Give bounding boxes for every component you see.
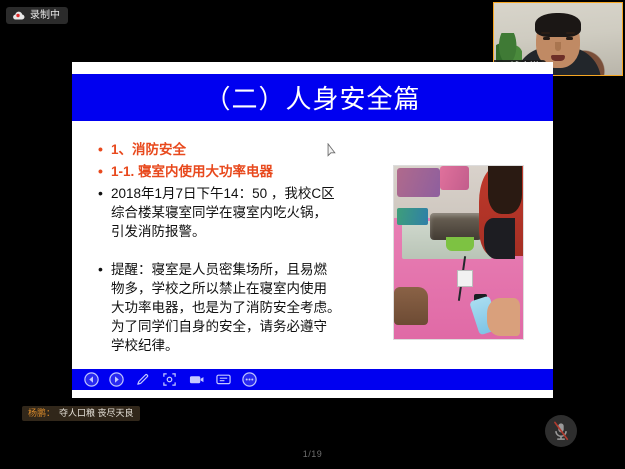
slide-title: （二）人身安全篇 [204, 79, 420, 116]
bullet-text: 提醒：寝室是人员密集场所，且易燃 物多，学校之所以禁止在寝室内使用 大功率电器，… [111, 260, 341, 355]
recording-indicator: 录制中 [6, 7, 68, 24]
bullet-marker: • [98, 260, 111, 279]
participant-eyebrow-left [541, 32, 550, 34]
photo-green-bowl [446, 237, 474, 251]
page-indicator: 1/19 [0, 449, 625, 459]
photo-student-hair [488, 166, 522, 214]
presenter-toolbar[interactable] [84, 372, 257, 387]
participant-eye-left [543, 37, 550, 40]
slide-bullet: • 提醒：寝室是人员密集场所，且易燃 物多，学校之所以禁止在寝室内使用 大功率电… [98, 260, 398, 355]
participant-eyebrow-right [566, 32, 575, 34]
slide-view-button[interactable] [188, 372, 205, 387]
zoom-region-button[interactable] [161, 372, 178, 387]
photo-student-hand [487, 298, 521, 336]
mute-microphone-button[interactable] [545, 415, 577, 447]
photo-white-tag [457, 270, 473, 288]
next-slide-button[interactable] [109, 372, 124, 387]
recording-label: 录制中 [30, 10, 60, 21]
bullet-line: 2018年1月7日下午14：50 ，我校C区 [111, 186, 335, 201]
chat-message: 夺人口粮 丧尽天良 [59, 408, 134, 419]
participant-mouth [551, 55, 565, 61]
cloud-record-icon [12, 11, 25, 20]
chat-author: 杨鹏： [28, 408, 55, 419]
photo-student-legs [484, 218, 515, 260]
slide-title-bar: （二）人身安全篇 [72, 74, 553, 121]
dorm-hotpot-photo [393, 165, 524, 340]
pen-annotate-button[interactable] [134, 372, 151, 387]
slide-body-text: • 1、消防安全 • 1-1. 寝室内使用大功率电器 • 2018年1月7日下午… [98, 140, 398, 358]
slide-bullet: • 2018年1月7日下午14：50 ，我校C区 综合楼某寝室同学在寝室内吃火锅… [98, 184, 398, 241]
slide-bullet: • 1-1. 寝室内使用大功率电器 [98, 162, 398, 181]
bullet-marker: • [98, 140, 111, 159]
presentation-slide[interactable]: （二）人身安全篇 • 1、消防安全 • 1-1. 寝室内使用大功率电器 • 20… [72, 62, 553, 398]
bullet-marker: • [98, 162, 111, 181]
bullet-line: 综合楼某寝室同学在寝室内吃火锅， [111, 205, 327, 220]
bullet-text: 1、消防安全 [111, 140, 186, 159]
photo-brown-cushion [394, 287, 428, 325]
photo-snack-package [397, 208, 428, 225]
bullet-marker: • [98, 184, 111, 203]
photo-luggage-right [440, 166, 468, 190]
bullet-line: 提醒：寝室是人员密集场所，且易燃 [111, 262, 327, 277]
mouse-cursor [327, 143, 338, 159]
bullet-text: 2018年1月7日下午14：50 ，我校C区 综合楼某寝室同学在寝室内吃火锅， … [111, 184, 335, 241]
paragraph-gap [98, 244, 398, 260]
participant-eye-right [566, 37, 573, 40]
previous-slide-button[interactable] [84, 372, 99, 387]
slide-bullet: • 1、消防安全 [98, 140, 398, 159]
microphone-muted-icon [552, 421, 570, 441]
bullet-line: 大功率电器，也是为了消防安全考虑。 [111, 300, 341, 315]
speaker-notes-button[interactable] [215, 372, 232, 387]
bullet-text: 1-1. 寝室内使用大功率电器 [111, 162, 273, 181]
bullet-line: 引发消防报警。 [111, 224, 206, 239]
participant-nose [555, 42, 561, 51]
bullet-line: 为了同学们自身的安全，请务必遵守 [111, 319, 327, 334]
more-options-button[interactable] [242, 372, 257, 387]
chat-message-overlay: 杨鹏： 夺人口粮 丧尽天良 [22, 406, 140, 421]
bullet-line: 物多，学校之所以禁止在寝室内使用 [111, 281, 327, 296]
photo-luggage-left [397, 168, 441, 197]
bullet-line: 学校纪律。 [111, 338, 179, 353]
